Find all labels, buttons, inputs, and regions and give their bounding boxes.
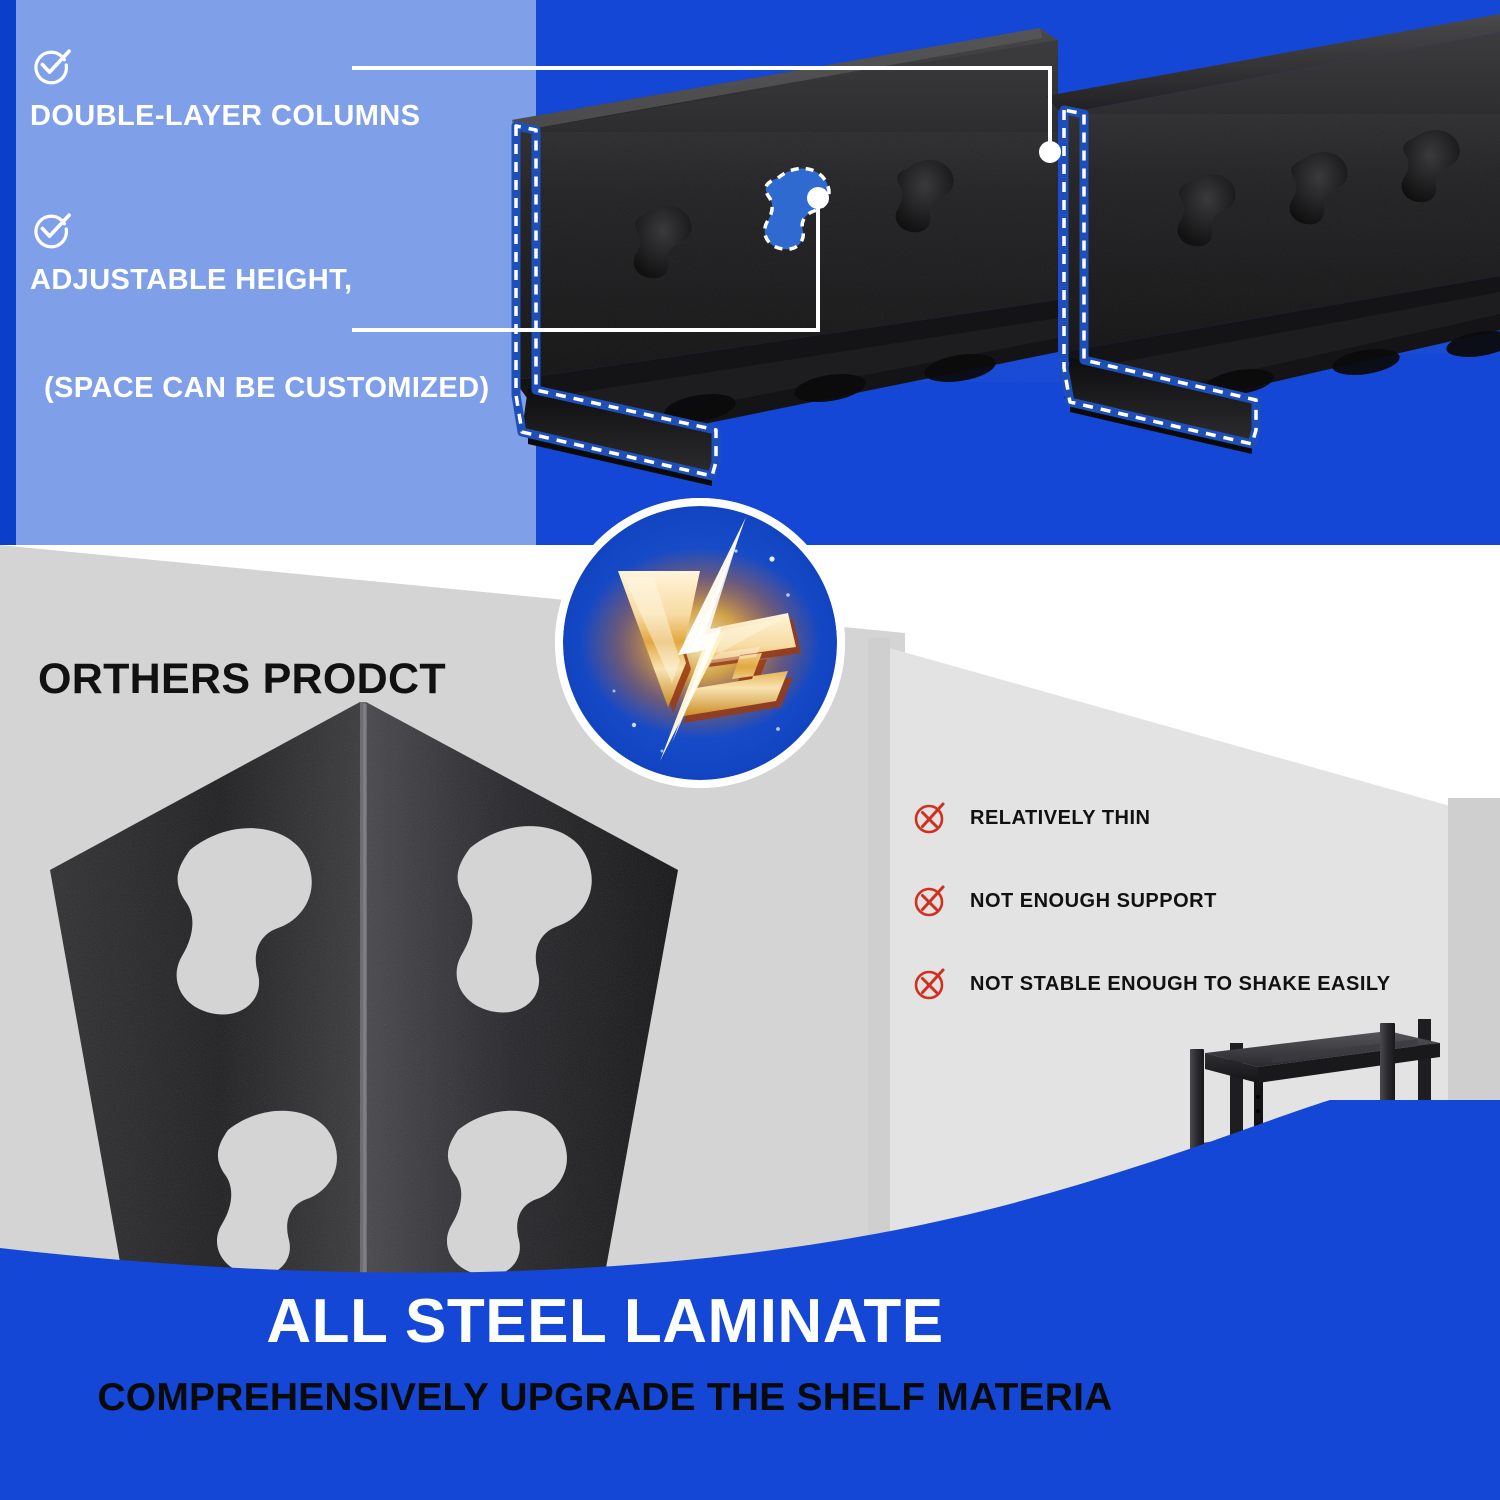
ours-title: OUR PRODCT xyxy=(1056,563,1348,612)
vs-badge xyxy=(550,493,850,793)
others-title: ORTHERS PRODCT xyxy=(38,655,446,704)
feature-note: (SPACE CAN BE CUSTOMIZED) xyxy=(44,372,584,405)
feature-item: DOUBLE-LAYER COLUMNS xyxy=(30,44,530,132)
banner-title: ALL STEEL LAMINATE xyxy=(0,1286,1210,1357)
feature-list: DOUBLE-LAYER COLUMNS ADJUSTABLE HEIGHT, … xyxy=(16,0,536,545)
con-label: NOT STABLE ENOUGH TO SHAKE EASILY xyxy=(970,973,1391,996)
circle-x-icon xyxy=(912,801,946,835)
circle-x-icon xyxy=(912,967,946,1001)
feature-label: DOUBLE-LAYER COLUMNS xyxy=(30,100,530,132)
banner-subtitle: COMPREHENSIVELY UPGRADE THE SHELF MATERI… xyxy=(0,1376,1210,1420)
con-row: NOT ENOUGH SUPPORT xyxy=(912,878,1472,924)
feature-label: ADJUSTABLE HEIGHT, xyxy=(30,264,530,296)
circle-check-icon xyxy=(30,208,72,250)
circle-x-icon xyxy=(912,884,946,918)
con-label: NOT ENOUGH SUPPORT xyxy=(970,890,1217,913)
con-label: RELATIVELY THIN xyxy=(970,807,1151,830)
infographic-poster: DOUBLE-LAYER COLUMNS ADJUSTABLE HEIGHT, … xyxy=(0,0,1500,1500)
circle-check-icon xyxy=(30,44,72,86)
con-row: NOT STABLE ENOUGH TO SHAKE EASILY xyxy=(912,961,1472,1007)
feature-item: ADJUSTABLE HEIGHT, xyxy=(30,208,530,296)
con-row: RELATIVELY THIN xyxy=(912,795,1472,841)
